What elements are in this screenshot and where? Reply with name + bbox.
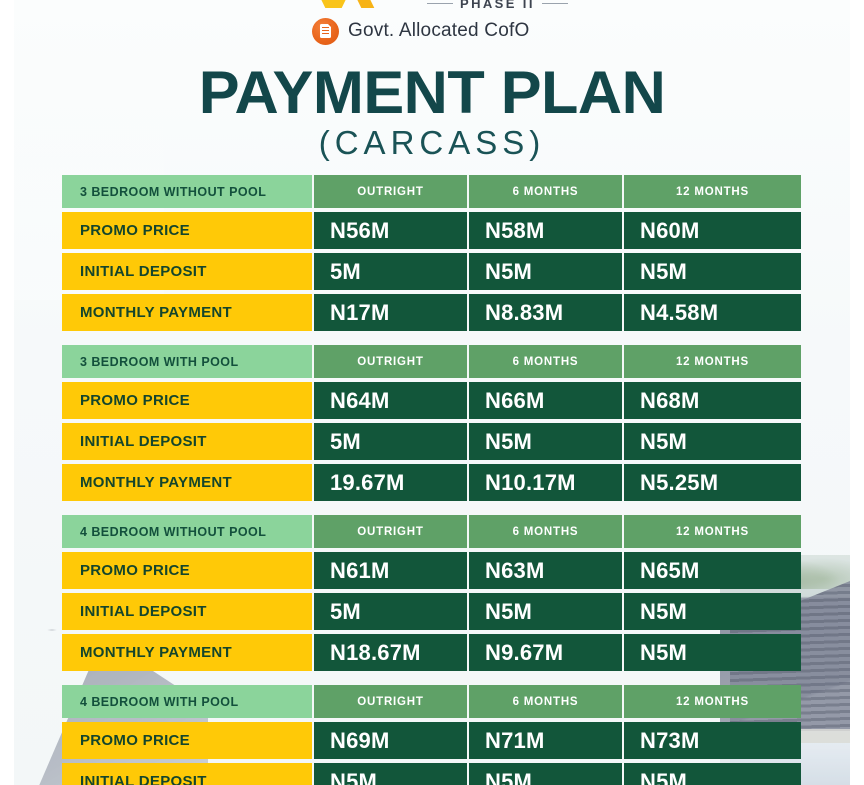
column-header: OUTRIGHT <box>312 175 467 208</box>
table-row: PROMO PRICEN61MN63MN65M <box>62 552 801 589</box>
row-label: PROMO PRICE <box>62 722 312 759</box>
price-cell: 19.67M <box>312 464 467 501</box>
payment-block: 4 BEDROOM WITHOUT POOLOUTRIGHT6 MONTHS12… <box>62 515 801 671</box>
column-header: 12 MONTHS <box>622 345 801 378</box>
table-row: PROMO PRICEN56MN58MN60M <box>62 212 801 249</box>
price-cell: N73M <box>622 722 801 759</box>
block-title: 4 BEDROOM WITH POOL <box>62 685 312 718</box>
price-cell: N18.67M <box>312 634 467 671</box>
price-cell: N5M <box>467 593 622 630</box>
document-badge-icon <box>312 18 339 45</box>
row-label: MONTHLY PAYMENT <box>62 464 312 501</box>
price-cell: N5M <box>622 423 801 460</box>
row-label: INITIAL DEPOSIT <box>62 253 312 290</box>
price-cell: N4.58M <box>622 294 801 331</box>
row-label: PROMO PRICE <box>62 552 312 589</box>
price-cell: N5.25M <box>622 464 801 501</box>
table-row: INITIAL DEPOSITN5MN5MN5M <box>62 763 801 785</box>
price-cell: N56M <box>312 212 467 249</box>
row-label: PROMO PRICE <box>62 382 312 419</box>
chevron-logo-mark-icon <box>316 0 372 8</box>
block-title: 4 BEDROOM WITHOUT POOL <box>62 515 312 548</box>
price-cell: 5M <box>312 593 467 630</box>
table-row: MONTHLY PAYMENTN17MN8.83MN4.58M <box>62 294 801 331</box>
price-cell: N5M <box>467 763 622 785</box>
payment-tables: 3 BEDROOM WITHOUT POOLOUTRIGHT6 MONTHS12… <box>62 175 801 785</box>
column-header: 6 MONTHS <box>467 685 622 718</box>
price-cell: N71M <box>467 722 622 759</box>
row-label: INITIAL DEPOSIT <box>62 593 312 630</box>
price-cell: N65M <box>622 552 801 589</box>
price-cell: N63M <box>467 552 622 589</box>
cofo-badge: Govt. Allocated CofO <box>312 17 529 45</box>
row-label: MONTHLY PAYMENT <box>62 294 312 331</box>
table-row: PROMO PRICEN69MN71MN73M <box>62 722 801 759</box>
column-header: 12 MONTHS <box>622 515 801 548</box>
table-header-row: 3 BEDROOM WITHOUT POOLOUTRIGHT6 MONTHS12… <box>62 175 801 208</box>
column-header: 6 MONTHS <box>467 345 622 378</box>
table-row: MONTHLY PAYMENT19.67MN10.17MN5.25M <box>62 464 801 501</box>
table-header-row: 4 BEDROOM WITH POOLOUTRIGHT6 MONTHS12 MO… <box>62 685 801 718</box>
column-header: OUTRIGHT <box>312 515 467 548</box>
column-header: 12 MONTHS <box>622 175 801 208</box>
cofo-label: Govt. Allocated CofO <box>348 20 529 42</box>
table-row: INITIAL DEPOSIT5MN5MN5M <box>62 593 801 630</box>
payment-block: 3 BEDROOM WITH POOLOUTRIGHT6 MONTHS12 MO… <box>62 345 801 501</box>
row-label: PROMO PRICE <box>62 212 312 249</box>
price-cell: N68M <box>622 382 801 419</box>
block-title: 3 BEDROOM WITHOUT POOL <box>62 175 312 208</box>
payment-block: 3 BEDROOM WITHOUT POOLOUTRIGHT6 MONTHS12… <box>62 175 801 331</box>
page-subtitle: (CARCASS) <box>0 125 864 161</box>
price-cell: N5M <box>622 763 801 785</box>
page-title: PAYMENT PLAN <box>0 62 864 124</box>
row-label: INITIAL DEPOSIT <box>62 423 312 460</box>
brand-header: PHASE II Govt. Allocated CofO <box>0 0 864 52</box>
table-row: PROMO PRICEN64MN66MN68M <box>62 382 801 419</box>
column-header: 6 MONTHS <box>467 515 622 548</box>
price-cell: N5M <box>467 423 622 460</box>
table-row: INITIAL DEPOSIT5MN5MN5M <box>62 423 801 460</box>
price-cell: 5M <box>312 423 467 460</box>
table-header-row: 4 BEDROOM WITHOUT POOLOUTRIGHT6 MONTHS12… <box>62 515 801 548</box>
price-cell: N5M <box>467 253 622 290</box>
payment-block: 4 BEDROOM WITH POOLOUTRIGHT6 MONTHS12 MO… <box>62 685 801 785</box>
price-cell: N5M <box>622 593 801 630</box>
phase-text: PHASE II <box>460 0 535 11</box>
column-header: 6 MONTHS <box>467 175 622 208</box>
price-cell: 5M <box>312 253 467 290</box>
price-cell: N5M <box>622 253 801 290</box>
price-cell: N8.83M <box>467 294 622 331</box>
price-cell: N5M <box>312 763 467 785</box>
price-cell: N10.17M <box>467 464 622 501</box>
column-header: OUTRIGHT <box>312 685 467 718</box>
row-label: INITIAL DEPOSIT <box>62 763 312 785</box>
payment-plan-flyer: PHASE II Govt. Allocated CofO PAYMENT PL… <box>0 0 864 785</box>
column-header: OUTRIGHT <box>312 345 467 378</box>
phase-label: PHASE II <box>420 0 575 11</box>
price-cell: N64M <box>312 382 467 419</box>
price-cell: N60M <box>622 212 801 249</box>
price-cell: N5M <box>622 634 801 671</box>
table-header-row: 3 BEDROOM WITH POOLOUTRIGHT6 MONTHS12 MO… <box>62 345 801 378</box>
table-row: INITIAL DEPOSIT5MN5MN5M <box>62 253 801 290</box>
block-title: 3 BEDROOM WITH POOL <box>62 345 312 378</box>
price-cell: N58M <box>467 212 622 249</box>
price-cell: N69M <box>312 722 467 759</box>
price-cell: N17M <box>312 294 467 331</box>
table-row: MONTHLY PAYMENTN18.67MN9.67MN5M <box>62 634 801 671</box>
price-cell: N9.67M <box>467 634 622 671</box>
price-cell: N61M <box>312 552 467 589</box>
column-header: 12 MONTHS <box>622 685 801 718</box>
price-cell: N66M <box>467 382 622 419</box>
row-label: MONTHLY PAYMENT <box>62 634 312 671</box>
